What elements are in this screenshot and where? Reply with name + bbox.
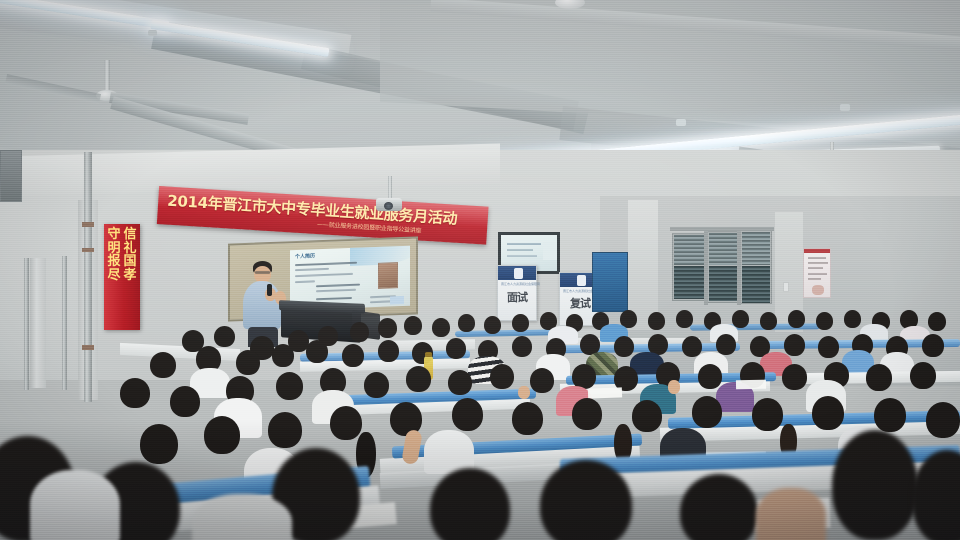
audience-head [812, 396, 844, 430]
audience-head [512, 314, 529, 332]
audience-head [458, 314, 475, 332]
audience-head [406, 366, 431, 392]
wall-electrical-panel [0, 150, 22, 202]
desk-paper [736, 380, 766, 390]
light-holder-1 [148, 30, 157, 36]
audience-head [760, 312, 777, 330]
window-louver-slats-2b [709, 266, 737, 301]
poster-line-5 [808, 278, 821, 280]
window-louver-slats-3b [742, 266, 770, 303]
audience-head [512, 402, 543, 435]
audience-hand [668, 380, 680, 394]
pipe-ring-2 [82, 248, 94, 252]
slide-line-0 [295, 262, 357, 266]
audience-head [698, 364, 722, 389]
poster-header-bar [804, 249, 830, 253]
pipe-ring-3 [82, 345, 94, 350]
audience-head [530, 368, 554, 393]
pipe-ring-1 [82, 222, 94, 227]
audience-head [404, 316, 422, 335]
speaker-shirt [243, 281, 281, 329]
wall-pipe-left-2 [62, 256, 67, 390]
audience-head [818, 336, 839, 358]
audience-head-foreground [430, 468, 510, 540]
audience-head [614, 336, 634, 357]
poster-line-1 [808, 257, 826, 259]
audience-head [236, 350, 260, 375]
audience-head [378, 318, 397, 338]
audience-torso-foreground-white-2 [192, 494, 292, 540]
audience-hand [518, 386, 530, 399]
standee-left-emblem-icon [514, 268, 523, 279]
audience-head [632, 400, 662, 432]
audience-head [512, 336, 532, 357]
speaker-glasses-icon [255, 271, 270, 274]
audience-head [350, 322, 369, 342]
audience-head [268, 412, 302, 448]
tv-content-line-3 [507, 255, 537, 257]
standee-left-headline: 面试 [498, 292, 536, 303]
poster-line-4 [808, 273, 827, 275]
audience-head [446, 338, 466, 359]
audience-head [928, 312, 946, 331]
window-mullion-2 [737, 229, 741, 305]
wall-blue-cabinet [592, 252, 628, 312]
audience-head [140, 424, 178, 464]
window-louver-slats-2 [709, 233, 737, 265]
audience-head [452, 398, 483, 431]
vertical-wall-banner: 守明报尽 信礼国孝 [104, 224, 140, 330]
audience-head [866, 364, 892, 391]
audience-head [204, 416, 240, 454]
slide-line-1 [295, 268, 329, 271]
audience-torso-foreground-skin [756, 488, 826, 540]
audience-head [874, 398, 906, 432]
audience-head [732, 310, 749, 328]
audience-head [692, 396, 722, 428]
slide-line-2 [295, 273, 353, 277]
slide-footer-badge [390, 296, 404, 305]
audience-head [330, 406, 362, 440]
window-head-rail [670, 227, 774, 231]
audience-head [432, 318, 450, 337]
audience-head [788, 310, 805, 328]
audience-head [276, 372, 303, 400]
audience-head [272, 344, 294, 367]
microphone-icon [267, 284, 272, 296]
standee-right-emblem-icon [577, 275, 586, 286]
light-holder-2 [676, 119, 686, 126]
window-mullion-1 [704, 229, 708, 305]
window-louver-slats-1b [674, 266, 704, 299]
slide-line-8 [370, 300, 392, 303]
vertical-banner-column-2: 信礼国孝 [122, 228, 138, 283]
audience-head [784, 334, 805, 356]
drink-bottle-cap-icon [425, 352, 432, 357]
poster-portrait-icon [812, 285, 824, 295]
wall-pillar-left [30, 258, 46, 388]
slide-line-6 [316, 297, 352, 300]
standee-left: 晋江市人力资源和社会保障局 面试 [497, 265, 537, 321]
audience-head [214, 326, 235, 347]
audience-head-foreground [832, 430, 918, 540]
audience-head-foreground [680, 474, 758, 540]
audience-head [752, 398, 783, 431]
audience-head [648, 312, 665, 330]
audience-torso-foreground-white [30, 470, 120, 540]
tv-content-block [543, 242, 557, 260]
wall-poster-right [803, 248, 831, 298]
audience-head [676, 310, 693, 328]
audience-head [910, 362, 936, 389]
audience-head [170, 386, 200, 417]
audience-head [120, 378, 150, 408]
light-holder-3 [840, 104, 850, 111]
audience-head [782, 364, 807, 390]
audience-head [150, 352, 176, 378]
audience-head [572, 398, 602, 430]
projector-lens-icon [384, 202, 393, 210]
slide-line-4 [316, 284, 360, 288]
wall-switch-plate [783, 282, 789, 292]
poster-line-3 [808, 267, 823, 269]
audience-head [716, 334, 736, 355]
poster-line-2 [808, 262, 828, 264]
slide-id-photo [378, 262, 398, 289]
tv-content-line-2 [507, 249, 533, 251]
slide-line-3 [295, 280, 315, 283]
audience-head [342, 344, 364, 367]
wall-pipe-left [24, 258, 29, 390]
slide-line-5 [316, 289, 356, 293]
wall-pipe-column [84, 152, 92, 402]
vertical-banner-column-1: 守明报尽 [106, 228, 122, 283]
audience-head [364, 372, 389, 398]
audience-head [484, 316, 501, 334]
audience-head [306, 340, 328, 363]
audience-head [448, 370, 472, 395]
standee-left-logo-text: 晋江市人力资源和社会保障局 [501, 282, 540, 286]
audience-head [378, 340, 399, 362]
audience-head [922, 334, 944, 357]
window-louver-slats-1 [674, 235, 704, 265]
audience-head [816, 312, 833, 330]
tv-content-line-1 [507, 243, 541, 245]
desk-paper [588, 387, 622, 398]
projector-mount-rod [388, 176, 392, 200]
audience-head [844, 310, 861, 328]
slide-title: 个人简历 [295, 252, 315, 260]
audience-head-foreground [540, 460, 632, 540]
window-louver-slats-3 [742, 232, 770, 265]
lecture-hall-photo: 守明报尽 信礼国孝 2014年晋江市大中专毕业生就业服务月活动 ——就业服务进校… [0, 0, 960, 540]
audience-head [490, 364, 514, 389]
audience-head [926, 402, 960, 438]
ceiling-fan-rod-left [104, 60, 110, 94]
